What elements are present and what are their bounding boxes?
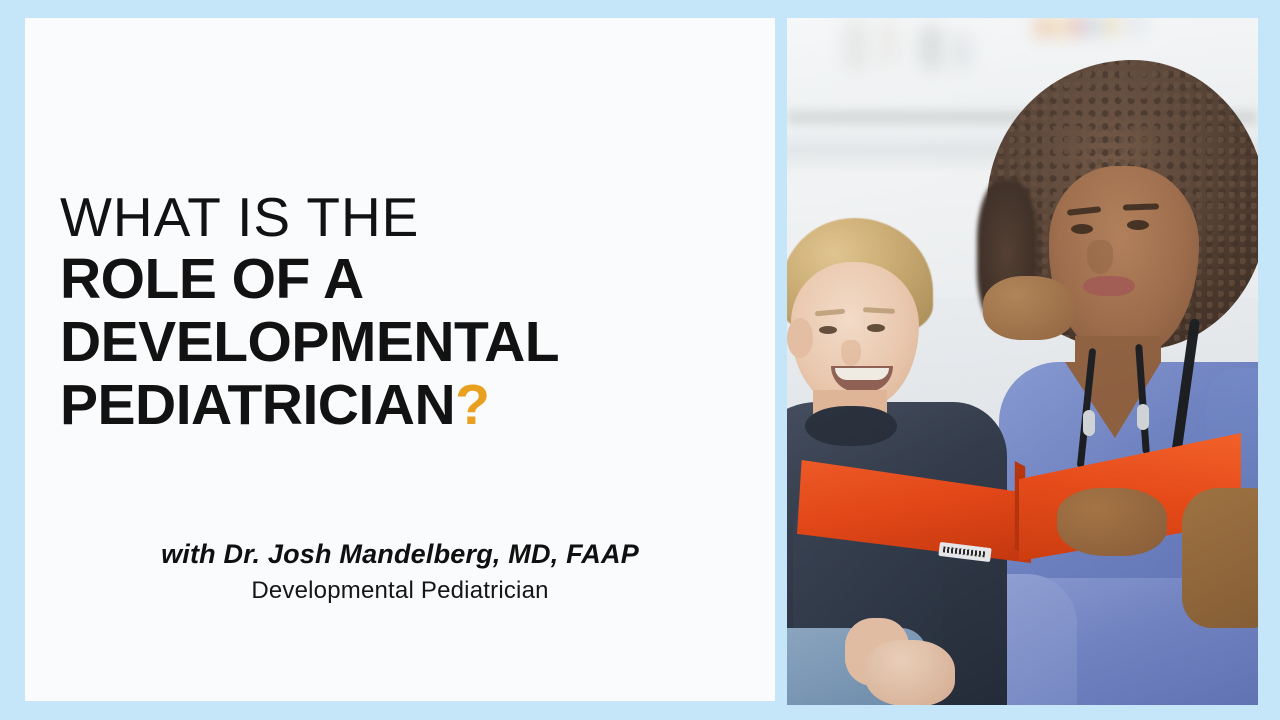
title-line-2: ROLE OF A — [60, 248, 750, 311]
title-line-1: WHAT IS THE — [60, 186, 750, 248]
shelf-item — [1103, 18, 1121, 32]
title-slide: WHAT IS THE ROLE OF A DEVELOPMENTAL PEDI… — [0, 0, 1280, 720]
shelf-item — [1069, 18, 1087, 34]
text-card-panel: WHAT IS THE ROLE OF A DEVELOPMENTAL PEDI… — [25, 18, 775, 701]
child-eye-right — [867, 324, 885, 332]
shelf-item — [877, 18, 899, 66]
title-line-4: PEDIATRICIAN? — [60, 374, 750, 437]
shelf-item — [953, 32, 971, 70]
presenter-name: with Dr. Josh Mandelberg, MD, FAAP — [25, 536, 775, 572]
doctor-nose — [1087, 240, 1113, 274]
doctor-eye-right — [1127, 220, 1149, 230]
doctor-child-photo — [787, 18, 1258, 705]
doctor-eyebrow-right — [1123, 203, 1159, 210]
doctor-eye-left — [1071, 224, 1093, 234]
photo-scene — [787, 18, 1258, 705]
doctor-hand-lower — [1057, 488, 1167, 556]
title-line-3: DEVELOPMENTAL — [60, 311, 750, 374]
child-eye-left — [819, 326, 837, 334]
shelf-item — [919, 24, 943, 70]
orange-folder — [797, 433, 1237, 563]
child-ear — [787, 318, 813, 358]
shelf-item — [843, 20, 869, 72]
presenter-role: Developmental Pediatrician — [25, 574, 775, 608]
shelf-item — [1087, 18, 1103, 34]
slide-title: WHAT IS THE ROLE OF A DEVELOPMENTAL PEDI… — [60, 186, 750, 437]
child-teeth — [835, 368, 889, 380]
doctor-forearm — [1182, 488, 1258, 628]
doctor-lips — [1083, 276, 1135, 296]
child-hands — [865, 640, 955, 705]
shelf-item — [1053, 18, 1069, 36]
shelf-item — [1127, 18, 1145, 32]
title-line-4-text: PEDIATRICIAN — [60, 373, 455, 437]
doctor-face — [1049, 166, 1199, 356]
question-mark: ? — [455, 373, 489, 437]
child-nose — [841, 340, 861, 366]
presenter-block: with Dr. Josh Mandelberg, MD, FAAP Devel… — [25, 536, 775, 608]
folder-left-panel — [797, 451, 1031, 563]
stethoscope-clip-right — [1137, 404, 1149, 430]
shelf-item — [1035, 18, 1053, 36]
doctor-hand-upper — [983, 276, 1075, 340]
